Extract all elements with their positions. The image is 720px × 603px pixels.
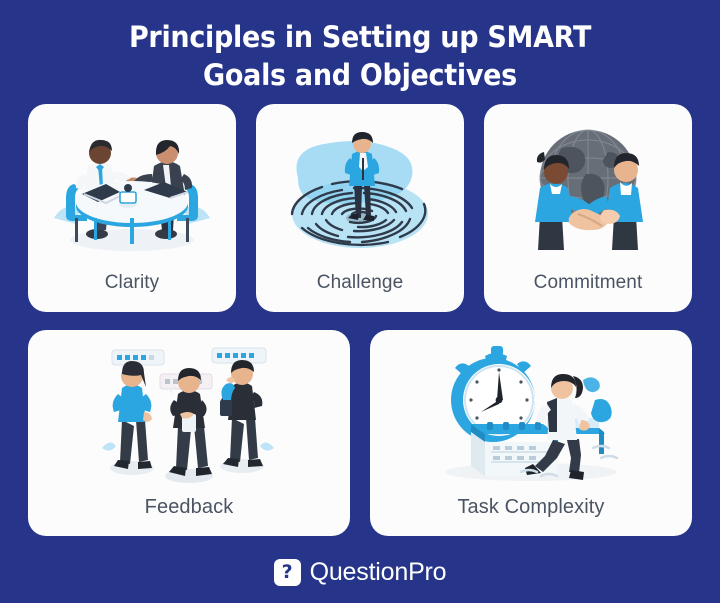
two-people-meeting-table-illustration (28, 104, 236, 270)
three-people-star-ratings-illustration (28, 330, 350, 494)
principles-row-top: Clarity (28, 104, 692, 312)
principles-row-bottom: Feedback (28, 330, 692, 536)
card-feedback[interactable]: Feedback (28, 330, 350, 536)
handshake-globe-illustration (484, 104, 692, 270)
card-label-challenge: Challenge (317, 270, 403, 302)
card-task-complexity[interactable]: Task Complexity (370, 330, 692, 536)
principles-grid: Clarity (0, 104, 720, 554)
card-commitment[interactable]: Commitment (484, 104, 692, 312)
page-title: Principles in Setting up SMART Goals and… (0, 0, 720, 104)
title-line-1: Principles in Setting up SMART (25, 18, 695, 56)
infographic-root: Principles in Setting up SMART Goals and… (0, 0, 720, 603)
card-label-commitment: Commitment (534, 270, 643, 302)
card-label-feedback: Feedback (145, 494, 234, 526)
questionpro-logo-text: QuestionPro (310, 558, 447, 587)
questionpro-logo-icon: ? (274, 559, 301, 586)
title-line-2: Goals and Objectives (25, 56, 695, 94)
man-standing-in-maze-illustration (256, 104, 464, 270)
card-clarity[interactable]: Clarity (28, 104, 236, 312)
card-label-clarity: Clarity (105, 270, 160, 302)
question-mark-glyph: ? (282, 563, 293, 582)
card-label-task-complexity: Task Complexity (457, 494, 604, 526)
questionpro-logo[interactable]: ? QuestionPro (0, 554, 720, 587)
card-challenge[interactable]: Challenge (256, 104, 464, 312)
stopwatch-calendar-running-woman-illustration (370, 330, 692, 494)
